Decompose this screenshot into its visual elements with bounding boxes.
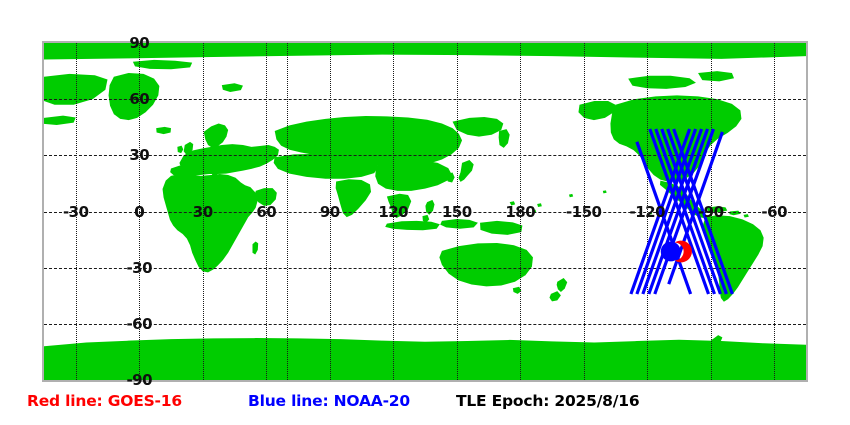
cuba — [707, 206, 728, 212]
greenland — [109, 73, 160, 120]
map-legend: Red line: GOES-16 Blue line: NOAA-20 TLE… — [0, 392, 850, 425]
alaska — [578, 101, 615, 120]
iceland — [156, 127, 171, 134]
arctic-ice-strip — [44, 43, 806, 59]
legend-noaa20: Blue line: NOAA-20 — [248, 392, 410, 410]
madagascar — [252, 241, 258, 254]
indonesia-sulawesi — [440, 219, 478, 229]
china-east-asia — [375, 160, 451, 191]
philippines — [425, 200, 434, 215]
india — [336, 179, 371, 217]
antarctica — [44, 338, 806, 380]
legend-tle-epoch: TLE Epoch: 2025/8/16 — [456, 392, 639, 410]
pacific-island-6 — [648, 212, 652, 215]
canadian-arctic — [628, 76, 696, 89]
south-america — [703, 215, 763, 301]
puerto-rico — [744, 214, 749, 217]
pacific-island-2 — [537, 203, 542, 207]
ireland — [177, 146, 183, 153]
world-landmass-layer — [44, 43, 806, 380]
svalbard — [222, 83, 243, 92]
tasmania — [513, 287, 521, 294]
arctic-islands-north — [133, 60, 192, 69]
pacific-island-5 — [532, 210, 536, 214]
scandinavia — [204, 124, 228, 148]
kamchatka — [499, 129, 510, 148]
mexico-central-america — [660, 181, 706, 218]
north-atlantic-island — [44, 116, 76, 125]
arabian-peninsula — [255, 188, 277, 206]
north-america — [610, 95, 741, 181]
japan — [458, 160, 473, 182]
baffin-island — [698, 71, 734, 81]
greenland-west-wrap — [44, 74, 108, 105]
new-zealand-north — [557, 278, 568, 292]
new-zealand-south — [549, 291, 560, 301]
pacific-island-3 — [569, 194, 573, 197]
siberia-far-east — [453, 117, 504, 137]
africa — [163, 174, 258, 272]
korea — [446, 173, 454, 183]
australia — [439, 243, 533, 286]
indochina — [387, 194, 411, 218]
indonesia-sumatra-java — [385, 221, 440, 230]
new-guinea — [480, 221, 522, 235]
world-map-panel: -30 0 30 60 90 120 150 180 -150 -120 -90… — [42, 41, 808, 382]
pacific-island-4 — [603, 190, 607, 193]
pacific-island-1 — [510, 201, 516, 205]
legend-goes16: Red line: GOES-16 — [27, 392, 182, 410]
map-clip-region — [44, 43, 806, 380]
land-polygons — [44, 43, 806, 380]
europe — [179, 144, 278, 175]
hispaniola — [729, 211, 740, 216]
